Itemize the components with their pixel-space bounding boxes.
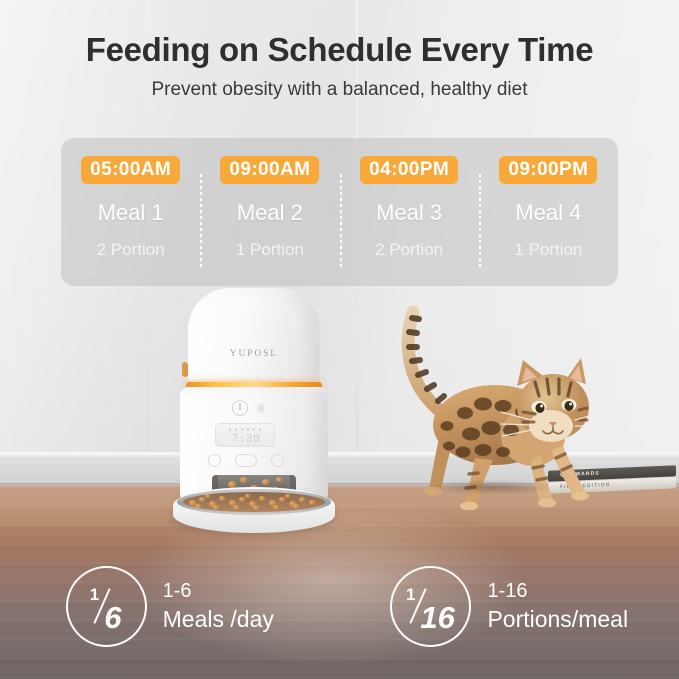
feature-text-block: 1-6 Meals /day	[163, 578, 274, 635]
page-subtitle: Prevent obesity with a balanced, healthy…	[0, 79, 679, 101]
kibble-piece	[239, 497, 245, 502]
lcd-time-readout: 7:30	[216, 432, 275, 445]
meal-time-badge: 09:00AM	[220, 156, 319, 184]
kibble-piece	[245, 494, 250, 498]
kibble-piece	[262, 479, 269, 485]
kibble-piece	[195, 504, 201, 509]
kibble-piece	[279, 497, 285, 502]
schedule-column: 09:00AM Meal 2 1 Portion	[200, 138, 339, 286]
lid-latch-tab	[182, 362, 188, 377]
schedule-column: 04:00PM Meal 3 2 Portion	[340, 138, 479, 286]
fraction-badge-icon: 1 6	[66, 566, 147, 647]
fraction-denominator: 16	[420, 600, 454, 636]
feeder-control-buttons	[208, 454, 284, 467]
fraction-denominator: 6	[104, 600, 121, 636]
meal-time-badge: 04:00PM	[360, 156, 458, 184]
lcd-segment-dots	[229, 428, 263, 431]
kibble-piece	[205, 494, 210, 498]
fraction-numerator: 1	[406, 585, 415, 605]
kibble-piece	[273, 505, 279, 510]
feeding-schedule-card: 05:00AM Meal 1 2 Portion 09:00AM Meal 2 …	[61, 138, 618, 286]
kibble-piece	[299, 497, 305, 502]
schedule-column: 09:00PM Meal 4 1 Portion	[479, 138, 618, 286]
schedule-column: 05:00AM Meal 1 2 Portion	[61, 138, 200, 286]
kibble-piece	[309, 500, 315, 505]
feature-portions-per-meal: 1 16 1-16 Portions/meal	[340, 556, 679, 656]
power-button-icon	[232, 400, 248, 416]
fraction-numerator: 1	[90, 585, 99, 605]
meal-time-badge: 09:00PM	[499, 156, 597, 184]
fraction-display: 1 6	[68, 568, 145, 645]
fraction-display: 1 16	[392, 568, 469, 645]
meal-name-label: Meal 1	[98, 200, 164, 226]
kibble-piece	[253, 505, 259, 510]
kibble-piece	[199, 497, 205, 502]
kibble-piece	[259, 496, 265, 501]
meal-portion-label: 2 Portion	[97, 240, 165, 260]
feature-unit-label: Meals /day	[163, 604, 274, 634]
meal-name-label: Meal 3	[376, 200, 442, 226]
meal-portion-label: 1 Portion	[514, 240, 582, 260]
kibble-piece	[276, 477, 282, 482]
page-title: Feeding on Schedule Every Time	[0, 31, 679, 69]
header-block: Feeding on Schedule Every Time Prevent o…	[0, 0, 679, 101]
brand-logo: YUPOSL	[188, 348, 320, 358]
fraction-badge-icon: 1 16	[390, 566, 471, 647]
kibble-piece	[293, 504, 299, 509]
feature-highlights: 1 6 1-6 Meals /day 1 16 1-16 Portions/me…	[0, 556, 679, 656]
bengal-cat	[383, 300, 598, 510]
feature-range-label: 1-6	[163, 578, 274, 604]
kibble-piece	[213, 505, 219, 510]
feeder-lid	[188, 288, 320, 384]
feeder-lcd-display: 7:30	[215, 423, 275, 447]
feature-meals-per-day: 1 6 1-6 Meals /day	[0, 556, 340, 656]
kibble-piece	[219, 496, 225, 501]
control-button-right-icon	[271, 454, 284, 467]
control-button-left-icon	[208, 454, 221, 467]
kibble-piece	[285, 494, 290, 498]
meal-portion-label: 1 Portion	[236, 240, 304, 260]
meal-name-label: Meal 4	[515, 200, 581, 226]
cat-floor-shadow	[401, 476, 581, 498]
meal-time-badge: 05:00AM	[81, 156, 180, 184]
kibble-piece	[240, 477, 247, 483]
control-button-center-icon	[235, 454, 257, 467]
meal-portion-label: 2 Portion	[375, 240, 443, 260]
meal-name-label: Meal 2	[237, 200, 303, 226]
feature-text-block: 1-16 Portions/meal	[487, 578, 628, 635]
status-led-icon	[258, 405, 264, 411]
kibble-piece	[233, 505, 239, 510]
feature-unit-label: Portions/meal	[487, 604, 628, 634]
feature-range-label: 1-16	[487, 578, 628, 604]
automatic-pet-feeder: YUPOSL 7:30	[168, 288, 340, 536]
bowl-interior-with-kibble	[183, 492, 325, 512]
